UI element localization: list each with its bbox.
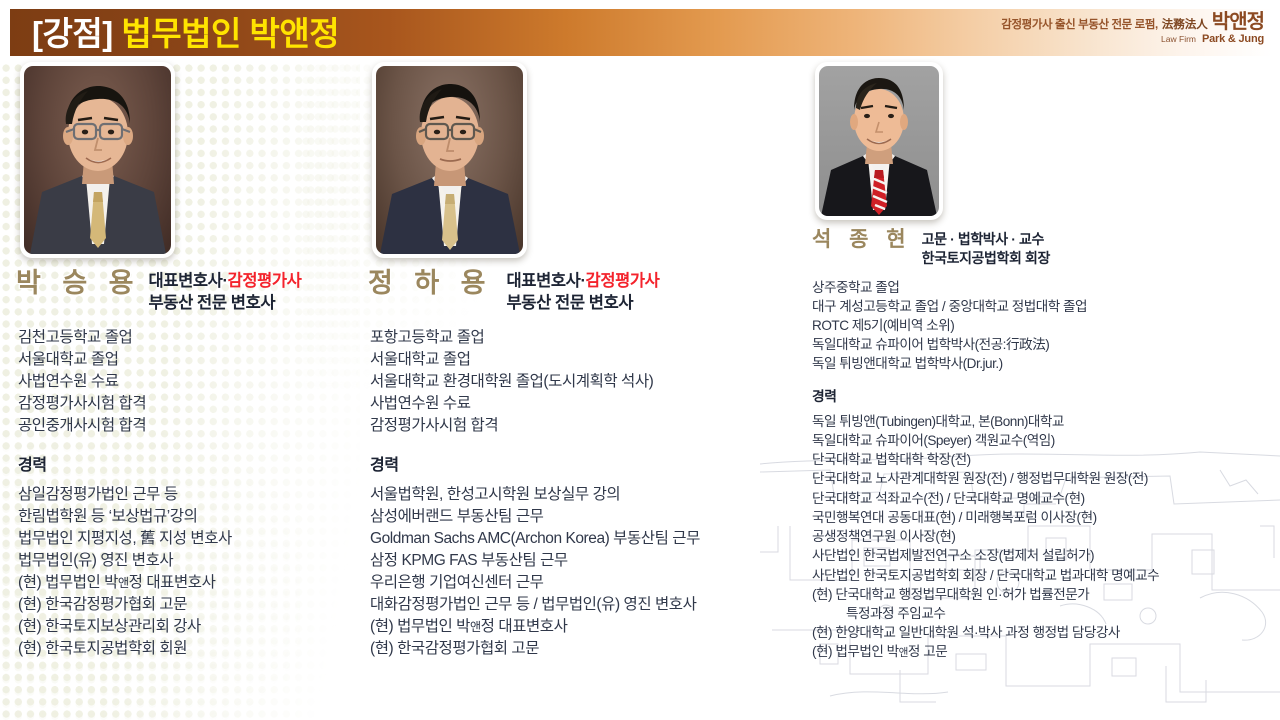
career-item: 국민행복연대 공동대표(현) / 미래행복포럼 이사장(현) xyxy=(812,508,1280,527)
portrait-illustration xyxy=(24,66,171,254)
name-title-row: 정 하 용 대표변호사·감정평가사 부동산 전문 변호사 xyxy=(368,268,800,315)
career-heading: 경력 xyxy=(370,451,800,475)
career-item: 사단법인 한국토지공법학회 회장 / 단국대학교 법과대학 명예교수 xyxy=(812,566,1280,585)
career-item: 단국대학교 법학대학 학장(전) xyxy=(812,450,1280,469)
career-text-ae: 앤 xyxy=(118,576,129,590)
profile-photo-jung-hayong xyxy=(372,62,527,258)
career-text: 정 고문 xyxy=(908,644,947,659)
logo-entity-hanja: 法務法人 xyxy=(1162,19,1208,32)
page-title-bracket: [강점] xyxy=(32,15,113,52)
career-item: (현) 한국토지보상관리회 강사 xyxy=(18,616,360,638)
title-part-highlight: 감정평가사 xyxy=(228,272,302,290)
logo-lawfirm-label: Law Firm xyxy=(1161,35,1196,45)
career-text: (현) 법무법인 박 xyxy=(812,644,899,659)
person-title-line-2: 부동산 전문 변호사 xyxy=(149,293,302,315)
person-titles: 고문 · 법학박사 · 교수 한국토지공법학회 회장 xyxy=(922,230,1050,268)
career-text-ae: 앤 xyxy=(470,620,481,634)
career-item: 단국대학교 노사관계대학원 원장(전) / 행정법무대학원 원장(전) xyxy=(812,469,1280,488)
logo-brand-english: Park & Jung xyxy=(1202,33,1264,45)
education-list: 김천고등학교 졸업 서울대학교 졸업 사법연수원 수료 감정평가사시험 합격 공… xyxy=(18,327,360,437)
career-item-continuation: 특정과정 주임교수 xyxy=(812,604,1280,623)
career-item: 사단법인 한국법제발전연구소 소장(법제처 설립허가) xyxy=(812,546,1280,565)
profile-photo-park-seungyong xyxy=(20,62,175,258)
education-item: 김천고등학교 졸업 xyxy=(18,327,360,349)
page-title-main: 법무법인 박앤정 xyxy=(121,15,339,52)
page-title: [강점] 법무법인 박앤정 xyxy=(32,17,339,50)
person-title-line-2: 한국토지공법학회 회장 xyxy=(922,249,1050,268)
person-name: 정 하 용 xyxy=(368,268,493,298)
logo-brand-korean: 박앤정 xyxy=(1212,13,1264,32)
company-logo: 감정평가사 출신 부동산 전문 로펌, 法務法人 박앤정 Law Firm Pa… xyxy=(1001,13,1264,45)
education-item: 독일 튀빙앤대학교 법학박사(Dr.jur.) xyxy=(812,354,1280,373)
profile-column-1: 박 승 용 대표변호사·감정평가사 부동산 전문 변호사 김천고등학교 졸업 서… xyxy=(0,62,360,660)
career-item: (현) 한양대학교 일반대학원 석·박사 과정 행정법 담당강사 xyxy=(812,623,1280,642)
education-item: 상주중학교 졸업 xyxy=(812,278,1280,297)
career-item: 삼정 KPMG FAS 부동산팀 근무 xyxy=(370,550,800,572)
career-item: 독일 튀빙앤(Tubingen)대학교, 본(Bonn)대학교 xyxy=(812,412,1280,431)
person-name: 박 승 용 xyxy=(16,268,141,298)
profile-column-3: 석 종 현 고문 · 법학박사 · 교수 한국토지공법학회 회장 상주중학교 졸… xyxy=(800,62,1280,662)
career-item: 우리은행 기업여신센터 근무 xyxy=(370,572,800,594)
person-title-line-1: 대표변호사·감정평가사 xyxy=(149,271,302,293)
career-item: 독일대학교 슈파이어(Speyer) 객원교수(역임) xyxy=(812,431,1280,450)
career-text: (현) 법무법인 박 xyxy=(18,574,118,591)
career-item: (현) 법무법인 박앤정 대표변호사 xyxy=(370,616,800,638)
career-item: 삼일감정평가법인 근무 등 xyxy=(18,484,360,506)
career-item: 공생정책연구원 이사장(현) xyxy=(812,527,1280,546)
career-item: 한림법학원 등 ‘보상법규’강의 xyxy=(18,506,360,528)
education-item: 포항고등학교 졸업 xyxy=(370,327,800,349)
portrait-illustration xyxy=(819,66,939,216)
education-item: 감정평가사시험 합격 xyxy=(18,393,360,415)
portrait-illustration xyxy=(376,66,523,254)
person-name: 석 종 현 xyxy=(812,228,912,252)
title-part: 대표변호사 xyxy=(507,272,581,290)
career-text: (현) 법무법인 박 xyxy=(370,618,470,635)
person-titles: 대표변호사·감정평가사 부동산 전문 변호사 xyxy=(149,271,302,315)
career-item: (현) 한국감정평가협회 고문 xyxy=(370,638,800,660)
profile-column-2: 정 하 용 대표변호사·감정평가사 부동산 전문 변호사 포항고등학교 졸업 서… xyxy=(360,62,800,660)
profile-photo-seok-jonghyun xyxy=(815,62,943,220)
name-title-row: 석 종 현 고문 · 법학박사 · 교수 한국토지공법학회 회장 xyxy=(812,228,1280,268)
person-title-line-1: 대표변호사·감정평가사 xyxy=(507,271,660,293)
career-item: (현) 한국감정평가협회 고문 xyxy=(18,594,360,616)
career-item: Goldman Sachs AMC(Archon Korea) 부동산팀 근무 xyxy=(370,528,800,550)
logo-top-row: 감정평가사 출신 부동산 전문 로펌, 法務法人 박앤정 xyxy=(1001,13,1264,32)
career-item: (현) 한국토지공법학회 회원 xyxy=(18,638,360,660)
education-item: 독일대학교 슈파이어 법학박사(전공:行政法) xyxy=(812,335,1280,354)
education-item: 사법연수원 수료 xyxy=(370,393,800,415)
career-text: 정 대표변호사 xyxy=(481,618,568,635)
career-item: (현) 법무법인 박앤정 대표변호사 xyxy=(18,572,360,594)
logo-bottom-row: Law Firm Park & Jung xyxy=(1001,33,1264,45)
title-part-highlight: 감정평가사 xyxy=(586,272,660,290)
career-heading: 경력 xyxy=(18,451,360,475)
education-item: 사법연수원 수료 xyxy=(18,371,360,393)
person-title-line-2: 부동산 전문 변호사 xyxy=(507,293,660,315)
career-item: 법무법인 지평지성, 舊 지성 변호사 xyxy=(18,528,360,550)
logo-tagline: 감정평가사 출신 부동산 전문 로펌, xyxy=(1001,19,1158,32)
name-title-row: 박 승 용 대표변호사·감정평가사 부동산 전문 변호사 xyxy=(16,268,360,315)
education-item: 서울대학교 졸업 xyxy=(370,349,800,371)
career-item: 법무법인(유) 영진 변호사 xyxy=(18,550,360,572)
person-titles: 대표변호사·감정평가사 부동산 전문 변호사 xyxy=(507,271,660,315)
education-item: ROTC 제5기(예비역 소위) xyxy=(812,316,1280,335)
career-text: 정 대표변호사 xyxy=(129,574,216,591)
education-list: 상주중학교 졸업 대구 계성고등학교 졸업 / 중앙대학교 정법대학 졸업 RO… xyxy=(812,278,1280,374)
career-heading: 경력 xyxy=(812,385,1280,405)
career-list: 삼일감정평가법인 근무 등 한림법학원 등 ‘보상법규’강의 법무법인 지평지성… xyxy=(18,484,360,660)
slide-canvas: [강점] 법무법인 박앤정 감정평가사 출신 부동산 전문 로펌, 法務法人 박… xyxy=(0,0,1280,720)
career-item: 서울법학원, 한성고시학원 보상실무 강의 xyxy=(370,484,800,506)
career-list: 서울법학원, 한성고시학원 보상실무 강의 삼성에버랜드 부동산팀 근무 Gol… xyxy=(370,484,800,660)
education-item: 서울대학교 졸업 xyxy=(18,349,360,371)
person-title-line-1: 고문 · 법학박사 · 교수 xyxy=(922,230,1050,249)
career-text-ae: 앤 xyxy=(899,647,908,659)
career-item: (현) 단국대학교 행정법무대학원 인·허가 법률전문가 xyxy=(812,585,1280,604)
career-item: (현) 법무법인 박앤정 고문 xyxy=(812,642,1280,661)
career-item: 대화감정평가법인 근무 등 / 법무법인(유) 영진 변호사 xyxy=(370,594,800,616)
education-item: 공인중개사시험 합격 xyxy=(18,415,360,437)
education-item: 대구 계성고등학교 졸업 / 중앙대학교 정법대학 졸업 xyxy=(812,297,1280,316)
education-item: 감정평가사시험 합격 xyxy=(370,415,800,437)
career-list: 독일 튀빙앤(Tubingen)대학교, 본(Bonn)대학교 독일대학교 슈파… xyxy=(812,412,1280,662)
education-list: 포항고등학교 졸업 서울대학교 졸업 서울대학교 환경대학원 졸업(도시계획학 … xyxy=(370,327,800,437)
education-item: 서울대학교 환경대학원 졸업(도시계획학 석사) xyxy=(370,371,800,393)
career-item: 단국대학교 석좌교수(전) / 단국대학교 명예교수(현) xyxy=(812,489,1280,508)
career-item: 삼성에버랜드 부동산팀 근무 xyxy=(370,506,800,528)
title-part: 대표변호사 xyxy=(149,272,223,290)
